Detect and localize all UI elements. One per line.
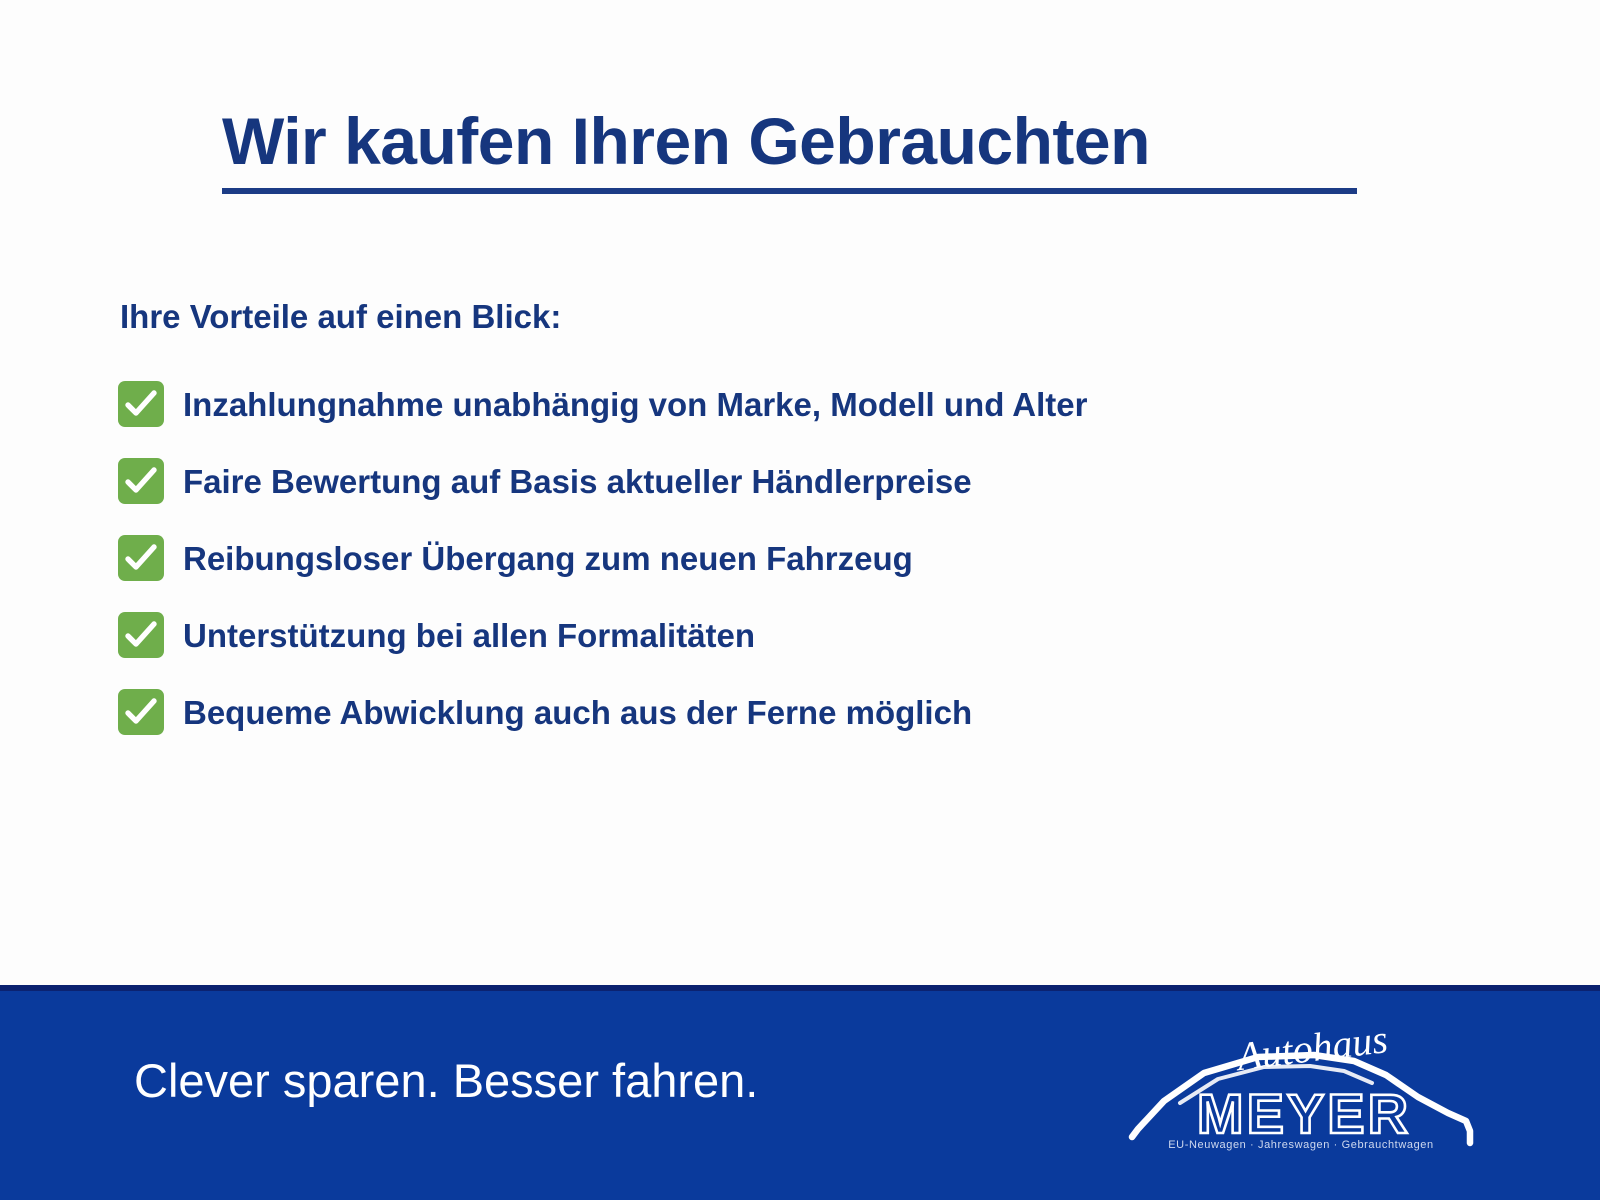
headline-block: Wir kaufen Ihren Gebrauchten [222, 108, 1362, 194]
check-square-icon [118, 535, 164, 581]
logo-tagline: EU-Neuwagen · Jahreswagen · Gebrauchtwag… [1136, 1139, 1466, 1151]
svg-text:Autohaus: Autohaus [1232, 1016, 1390, 1079]
list-item: Inzahlungnahme unabhängig von Marke, Mod… [118, 378, 1518, 430]
title-underline-rule [222, 188, 1357, 194]
flyer-page: Wir kaufen Ihren Gebrauchten Ihre Vortei… [0, 0, 1600, 1200]
list-item: Bequeme Abwicklung auch aus der Ferne mö… [118, 686, 1518, 738]
check-square-icon [118, 689, 164, 735]
list-item-label: Faire Bewertung auf Basis aktueller Händ… [183, 465, 972, 498]
svg-text:MEYER: MEYER [1197, 1082, 1411, 1145]
check-square-icon [118, 612, 164, 658]
list-item-label: Unterstützung bei allen Formalitäten [183, 619, 755, 652]
check-square-icon [118, 458, 164, 504]
list-item-label: Inzahlungnahme unabhängig von Marke, Mod… [183, 388, 1088, 421]
footer-slogan: Clever sparen. Besser fahren. [134, 1053, 758, 1108]
footer-bar: Clever sparen. Besser fahren. Autohaus M… [0, 985, 1600, 1200]
list-item: Unterstützung bei allen Formalitäten [118, 609, 1518, 661]
benefits-list: Inzahlungnahme unabhängig von Marke, Mod… [118, 378, 1518, 738]
check-square-icon [118, 381, 164, 427]
list-item: Reibungsloser Übergang zum neuen Fahrzeu… [118, 532, 1518, 584]
list-item-label: Reibungsloser Übergang zum neuen Fahrzeu… [183, 542, 913, 575]
list-item-label: Bequeme Abwicklung auch aus der Ferne mö… [183, 696, 972, 729]
list-item: Faire Bewertung auf Basis aktueller Händ… [118, 455, 1518, 507]
page-title: Wir kaufen Ihren Gebrauchten [222, 108, 1362, 174]
benefits-subtitle: Ihre Vorteile auf einen Blick: [120, 298, 561, 336]
